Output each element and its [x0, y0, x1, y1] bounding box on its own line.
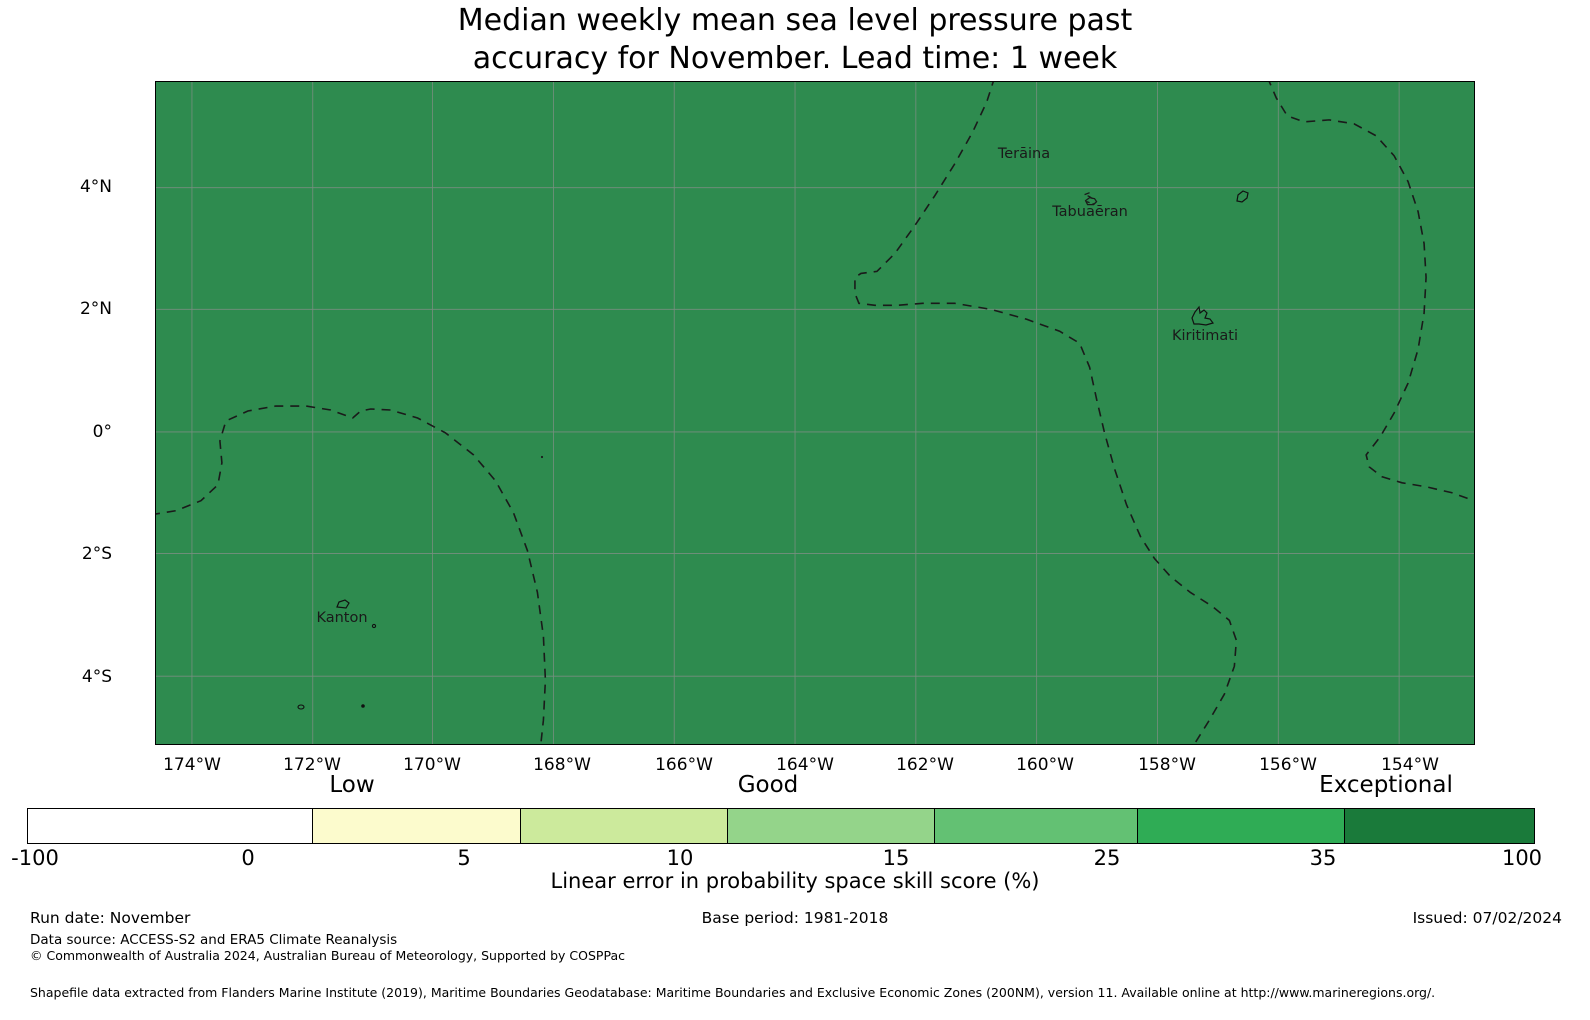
colorbar-category-low: Low [329, 772, 374, 798]
colorbar-tick-35: 35 [1310, 846, 1337, 870]
colorbar-tick-5: 5 [457, 846, 470, 870]
x-axis-tick-170w: 170°W [403, 755, 461, 775]
footer-shapefile-attribution: Shapefile data extracted from Flanders M… [30, 985, 1435, 1000]
footer-issued: Issued: 07/02/2024 [1413, 909, 1562, 927]
colorbar-category-good: Good [738, 772, 799, 798]
y-axis-tick-2s: 2°S [0, 544, 112, 564]
small-islet-shape-2 [296, 702, 306, 712]
colorbar-segment-25-35 [1138, 809, 1345, 843]
y-axis-tick-4s: 4°S [0, 667, 112, 687]
colorbar-segment-35-100 [1345, 809, 1534, 843]
colorbar-tick-25: 25 [1094, 846, 1121, 870]
colorbar-segment-5-10 [521, 809, 728, 843]
y-axis-tick-2n: 2°N [0, 299, 112, 319]
colorbar-tick-15: 15 [883, 846, 910, 870]
x-axis-tick-160w: 160°W [1016, 755, 1074, 775]
small-islet-shape-1 [370, 622, 378, 630]
eez-boundaries [156, 82, 1474, 744]
island-label-tabuaeran: Tabuaēran [1052, 204, 1128, 220]
tabuaeran-island-shape [1234, 189, 1256, 205]
colorbar-segment-10-15 [728, 809, 935, 843]
island-label-kanton: Kanton [316, 610, 367, 626]
map-plot-area[interactable]: Terāina Tabuaēran Kiritimati Kanton [155, 81, 1475, 745]
y-axis-tick-0: 0° [0, 422, 112, 442]
colorbar-tick-10: 10 [667, 846, 694, 870]
colorbar-segment-15-25 [935, 809, 1138, 843]
x-axis-tick-168w: 168°W [533, 755, 591, 775]
colorbar-tick-0: 0 [241, 846, 254, 870]
page-title: Median weekly mean sea level pressure pa… [0, 0, 1590, 78]
colorbar[interactable] [27, 808, 1535, 844]
island-label-teraina: Terāina [998, 146, 1050, 162]
colorbar-category-exceptional: Exceptional [1319, 772, 1453, 798]
footer-data-source: Data source: ACCESS-S2 and ERA5 Climate … [30, 932, 397, 948]
x-axis-tick-156w: 156°W [1259, 755, 1317, 775]
footer-base-period: Base period: 1981-2018 [0, 909, 1590, 927]
y-axis-tick-4n: 4°N [0, 177, 112, 197]
kiritimati-island-shape [1186, 304, 1216, 330]
x-axis-tick-162w: 162°W [896, 755, 954, 775]
x-axis-tick-158w: 158°W [1138, 755, 1196, 775]
footer-copyright: © Commonwealth of Australia 2024, Austra… [30, 948, 625, 963]
small-islet-shape-5 [538, 453, 546, 461]
x-axis-tick-174w: 174°W [163, 755, 221, 775]
colorbar-tick-minus100: -100 [11, 846, 59, 870]
page-title-line-2: accuracy for November. Lead time: 1 week [0, 40, 1590, 78]
colorbar-axis-label: Linear error in probability space skill … [0, 869, 1590, 893]
colorbar-tick-100: 100 [1502, 846, 1542, 870]
page-title-line-1: Median weekly mean sea level pressure pa… [0, 2, 1590, 40]
small-islet-shape-3 [359, 702, 367, 710]
x-axis-tick-166w: 166°W [655, 755, 713, 775]
island-label-kiritimati: Kiritimati [1172, 328, 1238, 344]
colorbar-segment-0-5 [313, 809, 520, 843]
colorbar-segment-minus100-0 [28, 809, 313, 843]
